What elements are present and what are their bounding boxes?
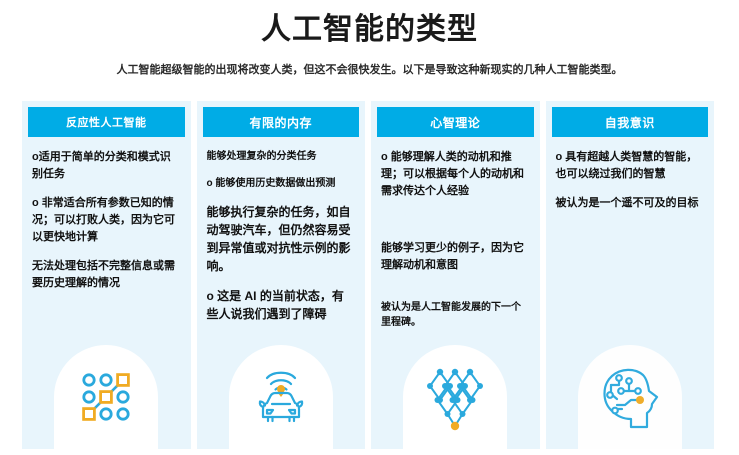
column-header-limited-memory: 有限的内存 (203, 107, 360, 137)
column-2-paragraph-1: 能够处理复杂的分类任务 (207, 149, 356, 164)
neural-network-icon (403, 345, 507, 449)
ai-head-icon (578, 345, 682, 449)
column-reactive-ai: 反应性人工智能 o适用于简单的分类和模式识别任务 o 非常适合所有参数已知的情况… (22, 101, 191, 449)
page-subtitle: 人工智能超级智能的出现将改变人类，但这不会很快发生。以下是导致这种新现实的几种人… (0, 62, 739, 78)
column-limited-memory: 有限的内存 能够处理复杂的分类任务 o 能够使用历史数据做出预测 能够执行复杂的… (197, 101, 366, 449)
ai-types-columns: 反应性人工智能 o适用于简单的分类和模式识别任务 o 非常适合所有参数已知的情况… (22, 101, 714, 449)
column-2-paragraph-4: o 这是 AI 的当前状态，有些人说我们遇到了障碍 (207, 287, 356, 323)
column-1-paragraph-1: o适用于简单的分类和模式识别任务 (32, 149, 181, 183)
column-2-paragraph-2: o 能够使用历史数据做出预测 (207, 176, 356, 191)
page-title: 人工智能的类型 (0, 10, 739, 50)
self-driving-car-icon (229, 345, 333, 449)
column-3-paragraph-2: 能够学习更少的例子，因为它理解动机和意图 (381, 240, 530, 274)
pattern-grid-icon (54, 345, 158, 449)
column-2-paragraph-3: 能够执行复杂的任务，如自动驾驶汽车，但仍然容易受到异常值或对抗性示例的影响。 (207, 203, 356, 275)
column-header-theory-of-mind: 心智理论 (377, 107, 534, 137)
column-4-paragraph-1: o 具有超越人类智慧的智能，也可以绕过我们的智慧 (556, 149, 705, 183)
column-header-self-awareness: 自我意识 (552, 107, 709, 137)
column-1-paragraph-2: o 非常适合所有参数已知的情况；可以打败人类，因为它可以更快地计算 (32, 195, 181, 246)
column-3-paragraph-1: o 能够理解人类的动机和推理；可以根据每个人的动机和需求传达个人经验 (381, 149, 530, 200)
column-3-paragraph-3: 被认为是人工智能发展的下一个里程碑。 (381, 300, 530, 330)
column-4-paragraph-2: 被认为是一个遥不可及的目标 (556, 195, 705, 212)
column-theory-of-mind: 心智理论 o 能够理解人类的动机和推理；可以根据每个人的动机和需求传达个人经验 … (371, 101, 540, 449)
column-header-reactive-ai: 反应性人工智能 (28, 107, 185, 137)
column-1-paragraph-3: 无法处理包括不完整信息或需要历史理解的情况 (32, 258, 181, 292)
column-self-awareness: 自我意识 o 具有超越人类智慧的智能，也可以绕过我们的智慧 被认为是一个遥不可及… (546, 101, 715, 449)
